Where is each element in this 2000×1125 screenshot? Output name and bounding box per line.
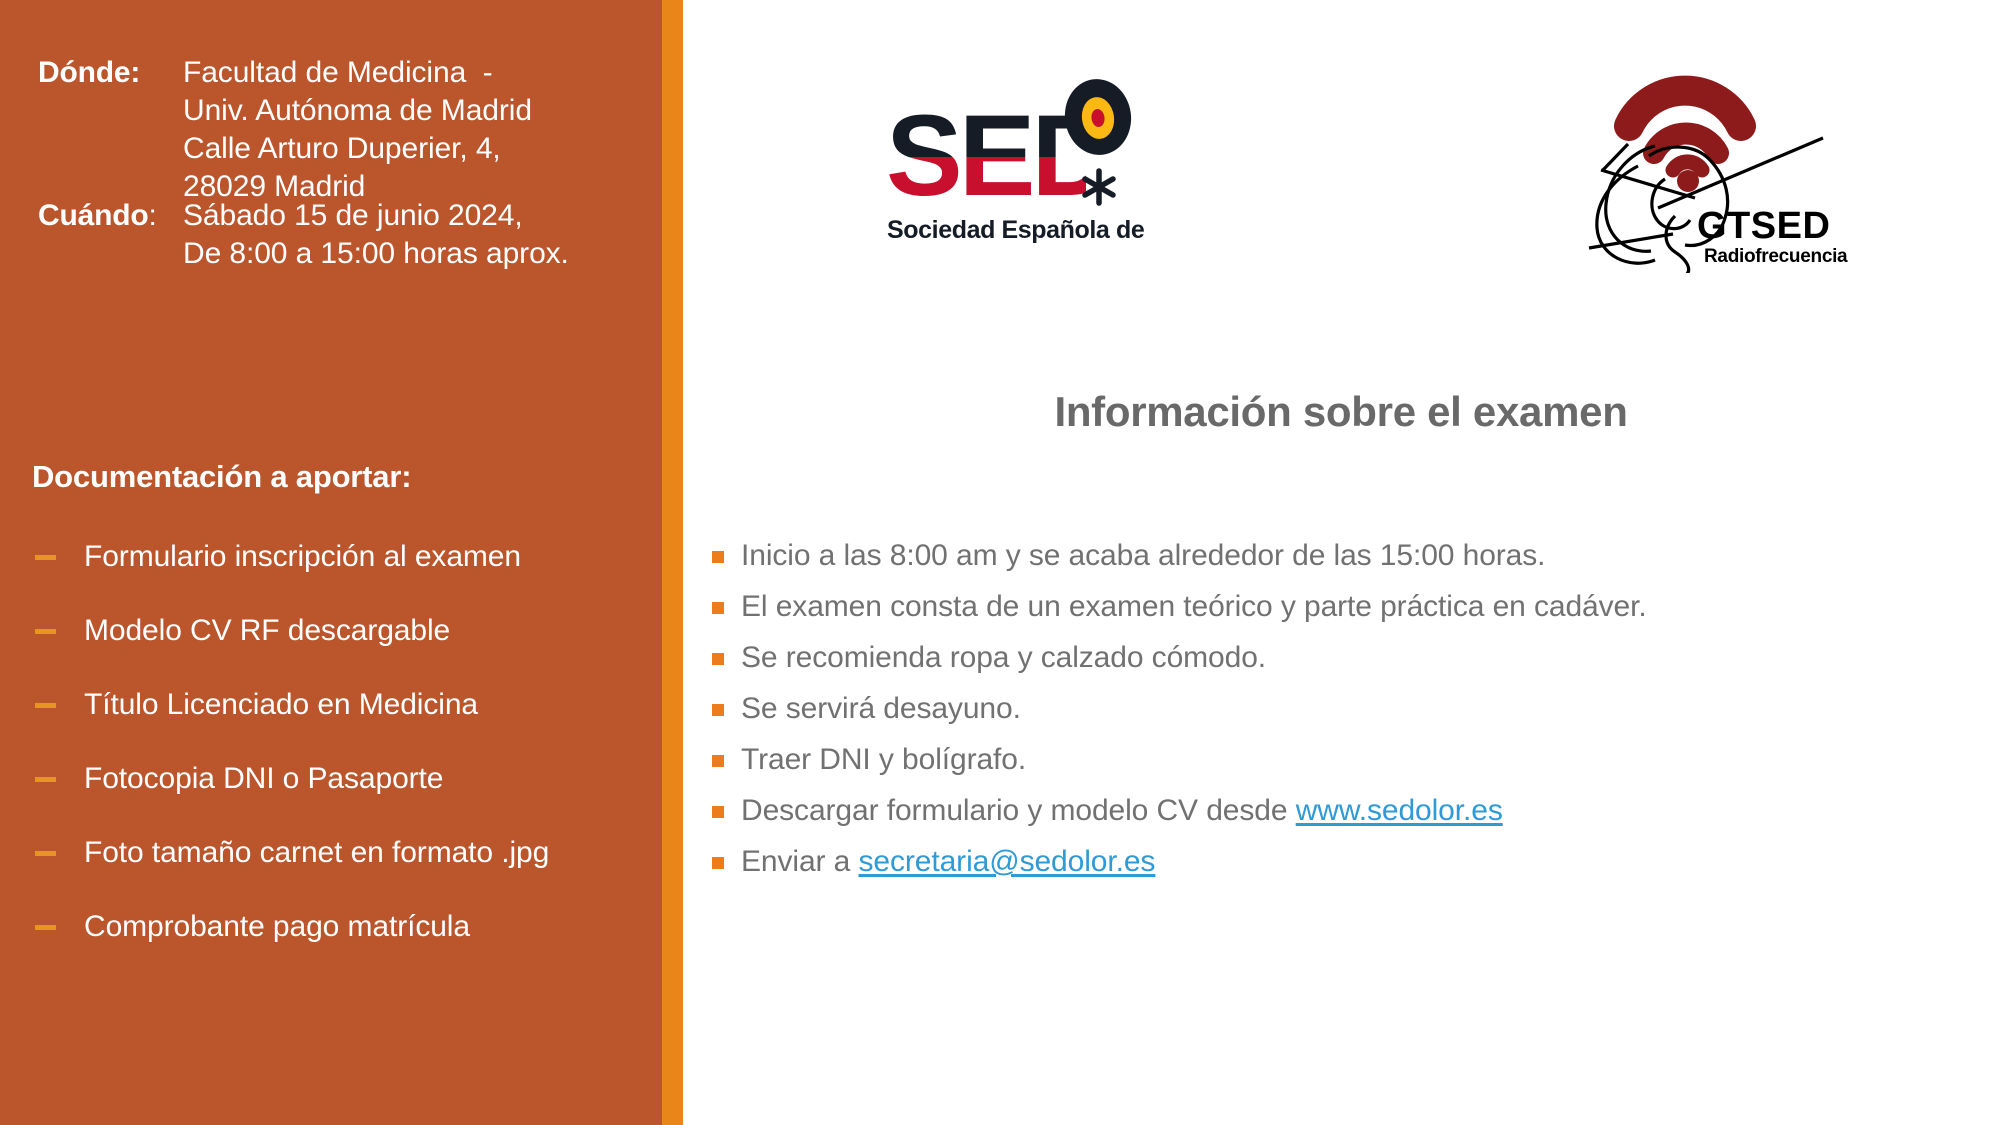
square-bullet-icon [712, 602, 724, 614]
sedolor-website-link[interactable]: www.sedolor.es [1296, 794, 1503, 827]
dash-bullet-icon [35, 629, 56, 634]
where-value: Facultad de Medicina - Univ. Autónoma de… [183, 54, 532, 206]
list-item: Modelo CV RF descargable [32, 608, 652, 654]
bullet-text: Se recomienda ropa y calzado cómodo. [741, 641, 1266, 674]
list-item: Descargar formulario y modelo CV desde w… [703, 790, 1703, 832]
bullet-text: Descargar formulario y modelo CV desde [741, 794, 1296, 827]
dash-bullet-icon [35, 555, 56, 560]
bullet-text: Se servirá desayuno. [741, 692, 1021, 725]
when-block: Cuándo: Sábado 15 de junio 2024, De 8:00… [38, 197, 569, 273]
list-item: Foto tamaño carnet en formato .jpg [32, 830, 652, 876]
when-line-1: Sábado 15 de junio 2024, [183, 197, 569, 235]
docs-item-label: Modelo CV RF descargable [84, 614, 450, 647]
list-item: Enviar a secretaria@sedolor.es [703, 841, 1703, 883]
when-label: Cuándo: [38, 197, 183, 235]
asterisk-icon [1085, 171, 1113, 203]
docs-list: Formulario inscripción al examen Modelo … [32, 534, 652, 978]
right-content-area: SED SED Sociedad Española del Dolor [683, 0, 2000, 1125]
list-item: Traer DNI y bolígrafo. [703, 739, 1703, 781]
list-item: El examen consta de un examen teórico y … [703, 586, 1703, 628]
when-label-colon: : [148, 199, 156, 232]
list-item: Se servirá desayuno. [703, 688, 1703, 730]
where-block: Dónde: Facultad de Medicina - Univ. Autó… [38, 54, 532, 206]
square-bullet-icon [712, 653, 724, 665]
left-info-panel: Dónde: Facultad de Medicina - Univ. Autó… [0, 0, 662, 1125]
sed-logo: SED SED Sociedad Española del Dolor [886, 75, 1146, 260]
when-line-2: De 8:00 a 15:00 horas aprox. [183, 235, 569, 273]
sed-logo-svg: SED SED Sociedad Española del Dolor [886, 75, 1146, 260]
dash-bullet-icon [35, 925, 56, 930]
docs-item-label: Fotocopia DNI o Pasaporte [84, 762, 443, 795]
when-value: Sábado 15 de junio 2024, De 8:00 a 15:00… [183, 197, 569, 273]
gtsed-logo: GTSED Radiofrecuencia [1545, 48, 1875, 273]
gtsed-subtitle: Radiofrecuencia [1704, 246, 1848, 267]
docs-item-label: Foto tamaño carnet en formato .jpg [84, 836, 549, 869]
where-line-3: Calle Arturo Duperier, 4, [183, 130, 532, 168]
docs-item-label: Formulario inscripción al examen [84, 540, 521, 573]
secretaria-email-link[interactable]: secretaria@sedolor.es [859, 845, 1156, 878]
where-line-2: Univ. Autónoma de Madrid [183, 92, 532, 130]
list-item: Comprobante pago matrícula [32, 904, 652, 950]
gtsed-logo-svg: GTSED Radiofrecuencia [1545, 48, 1875, 273]
list-item: Fotocopia DNI o Pasaporte [32, 756, 652, 802]
bullet-text: El examen consta de un examen teórico y … [741, 590, 1647, 623]
when-row: Cuándo: Sábado 15 de junio 2024, De 8:00… [38, 197, 569, 273]
where-line-1: Facultad de Medicina - [183, 54, 532, 92]
docs-item-label: Título Licenciado en Medicina [84, 688, 478, 721]
wave-dot [1677, 170, 1699, 192]
when-label-text: Cuándo [38, 199, 148, 232]
where-label: Dónde: [38, 54, 183, 92]
list-item: Inicio a las 8:00 am y se acaba alrededo… [703, 535, 1703, 577]
gtsed-wordmark: GTSED [1697, 205, 1830, 247]
radiofrequency-waves-icon [1629, 91, 1741, 170]
gold-divider-stripe [662, 0, 683, 1125]
square-bullet-icon [712, 806, 724, 818]
list-item: Título Licenciado en Medicina [32, 682, 652, 728]
dash-bullet-icon [35, 777, 56, 782]
bullet-text: Enviar a [741, 845, 859, 878]
sed-tagline: Sociedad Española del Dolor [887, 216, 1146, 244]
square-bullet-icon [712, 857, 724, 869]
dash-bullet-icon [35, 703, 56, 708]
dash-bullet-icon [35, 851, 56, 856]
list-item: Se recomienda ropa y calzado cómodo. [703, 637, 1703, 679]
square-bullet-icon [712, 704, 724, 716]
bullet-text: Inicio a las 8:00 am y se acaba alrededo… [741, 539, 1545, 572]
list-item: Formulario inscripción al examen [32, 534, 652, 580]
where-row: Dónde: Facultad de Medicina - Univ. Autó… [38, 54, 532, 206]
docs-item-label: Comprobante pago matrícula [84, 910, 470, 943]
docs-heading: Documentación a aportar: [32, 458, 411, 496]
square-bullet-icon [712, 755, 724, 767]
page-title: Información sobre el examen [691, 388, 1991, 436]
exam-info-list: Inicio a las 8:00 am y se acaba alrededo… [703, 535, 1703, 892]
square-bullet-icon [712, 551, 724, 563]
bullet-text: Traer DNI y bolígrafo. [741, 743, 1026, 776]
